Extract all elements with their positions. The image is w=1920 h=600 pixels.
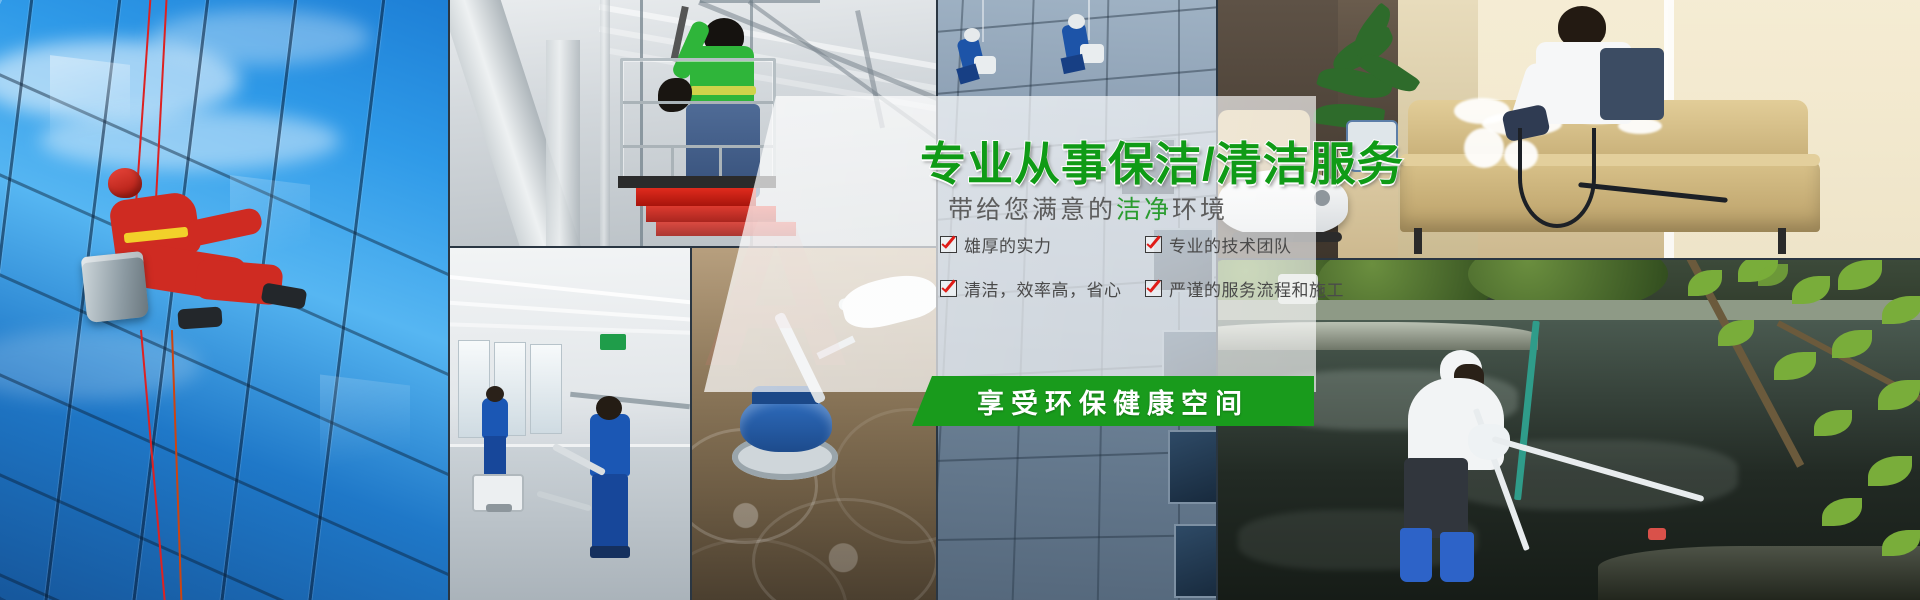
- banner-headline: 专业从事保洁/清洁服务: [920, 128, 1404, 194]
- feature-label: 专业的技术团队: [1169, 232, 1292, 257]
- checkbox-checked-icon: [1145, 236, 1162, 253]
- feature-item-4: 严谨的服务流程和施工: [1145, 276, 1344, 301]
- feature-item-1: 雄厚的实力: [940, 232, 1052, 257]
- promo-banner: A 专业从事保洁/清洁服务 带给您满意的洁净环境 雄厚的实力 专业的技术团队 清…: [0, 0, 1920, 600]
- checkbox-checked-icon: [940, 280, 957, 297]
- feature-label: 清洁，效率高，省心: [964, 276, 1122, 301]
- banner-content: 专业从事保洁/清洁服务 带给您满意的洁净环境 雄厚的实力 专业的技术团队 清洁，…: [0, 0, 1920, 600]
- cta-button[interactable]: 享受环保健康空间: [912, 376, 1314, 426]
- feature-item-2: 专业的技术团队: [1145, 232, 1292, 257]
- banner-subtitle: 带给您满意的洁净环境: [948, 190, 1228, 226]
- feature-item-3: 清洁，效率高，省心: [940, 276, 1122, 301]
- subtitle-highlight: 洁净: [1116, 196, 1172, 224]
- feature-label: 雄厚的实力: [964, 232, 1052, 257]
- feature-label: 严谨的服务流程和施工: [1169, 276, 1344, 301]
- checkbox-checked-icon: [940, 236, 957, 253]
- checkbox-checked-icon: [1145, 280, 1162, 297]
- subtitle-suffix: 环境: [1172, 196, 1228, 224]
- subtitle-prefix: 带给您满意的: [948, 196, 1116, 224]
